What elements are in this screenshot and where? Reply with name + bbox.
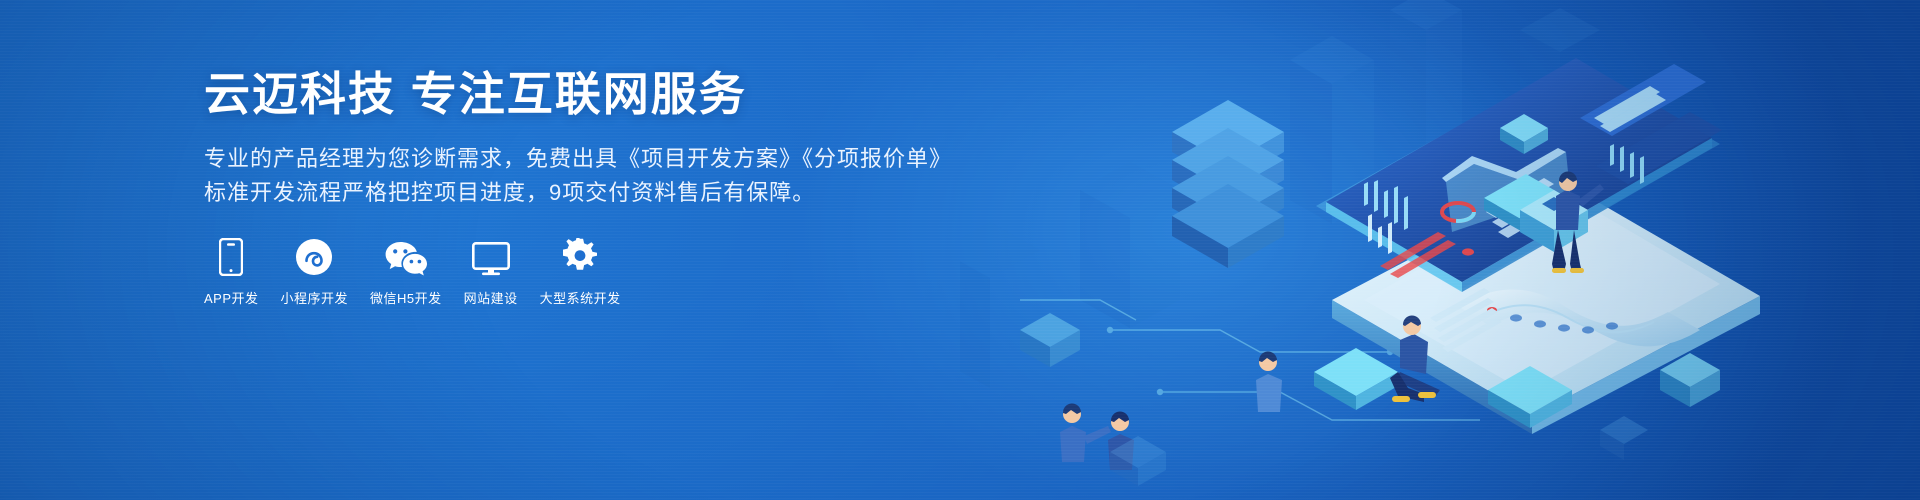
banner-subtitle: 专业的产品经理为您诊断需求，免费出具《项目开发方案》《分项报价单》 标准开发流程…	[204, 142, 1204, 210]
person-bottom-left	[1060, 403, 1111, 462]
wechat-icon	[384, 232, 428, 276]
gear-icon	[561, 232, 599, 276]
service-item-app[interactable]: APP开发	[204, 232, 259, 307]
mini-program-icon	[295, 232, 333, 276]
service-label-website: 网站建设	[464, 288, 518, 307]
banner-copy: 云迈科技 专注互联网服务 专业的产品经理为您诊断需求，免费出具《项目开发方案》《…	[204, 62, 1204, 210]
service-label-wechat-h5: 微信H5开发	[370, 288, 442, 307]
subtitle-line-2: 标准开发流程严格把控项目进度，9项交付资料售后有保障。	[204, 176, 1204, 210]
service-label-app: APP开发	[204, 288, 259, 307]
service-item-website[interactable]: 网站建设	[464, 232, 518, 307]
subtitle-line-1: 专业的产品经理为您诊断需求，免费出具《项目开发方案》《分项报价单》	[204, 142, 1204, 176]
service-item-large-system[interactable]: 大型系统开发	[540, 232, 621, 307]
service-item-wechat-h5[interactable]: 微信H5开发	[370, 232, 442, 307]
service-label-mini-program: 小程序开发	[281, 288, 349, 307]
foreground-diamonds	[1110, 416, 1648, 486]
person-right-lower	[1256, 351, 1282, 412]
banner-headline: 云迈科技 专注互联网服务	[204, 62, 1204, 126]
hero-banner: 云迈科技 专注互联网服务 专业的产品经理为您诊断需求，免费出具《项目开发方案》《…	[0, 0, 1920, 500]
service-list: APP开发 小程序开发	[204, 232, 621, 307]
mobile-phone-icon	[219, 232, 243, 276]
service-label-large-system: 大型系统开发	[540, 288, 621, 307]
service-item-mini-program[interactable]: 小程序开发	[281, 232, 349, 307]
monitor-icon	[472, 232, 510, 276]
